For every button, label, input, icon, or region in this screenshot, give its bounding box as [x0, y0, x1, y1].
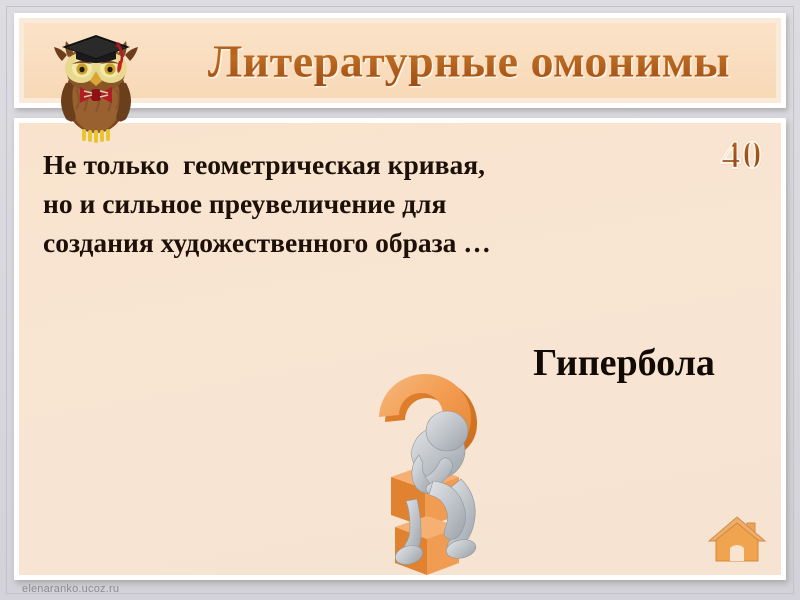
question-panel: 40 Не только геометрическая кривая, но и… — [14, 118, 786, 580]
title-banner: Литературные омонимы Литературные омоним… — [14, 13, 786, 108]
title-banner-inner: Литературные омонимы Литературные омоним… — [24, 23, 776, 98]
answer-text: Гипербола — [489, 341, 759, 385]
points-badge: 40 — [721, 135, 763, 175]
watermark: elenaranko.ucoz.ru — [22, 583, 119, 595]
home-icon[interactable] — [705, 511, 769, 567]
page-title: Литературные омонимы — [154, 34, 784, 87]
slide-root: Литературные омонимы Литературные омоним… — [0, 0, 800, 600]
owl-graduate-icon — [42, 17, 150, 145]
question-panel-inner: 40 Не только геометрическая кривая, но и… — [19, 123, 781, 575]
question-text: Не только геометрическая кривая, но и си… — [43, 145, 723, 262]
